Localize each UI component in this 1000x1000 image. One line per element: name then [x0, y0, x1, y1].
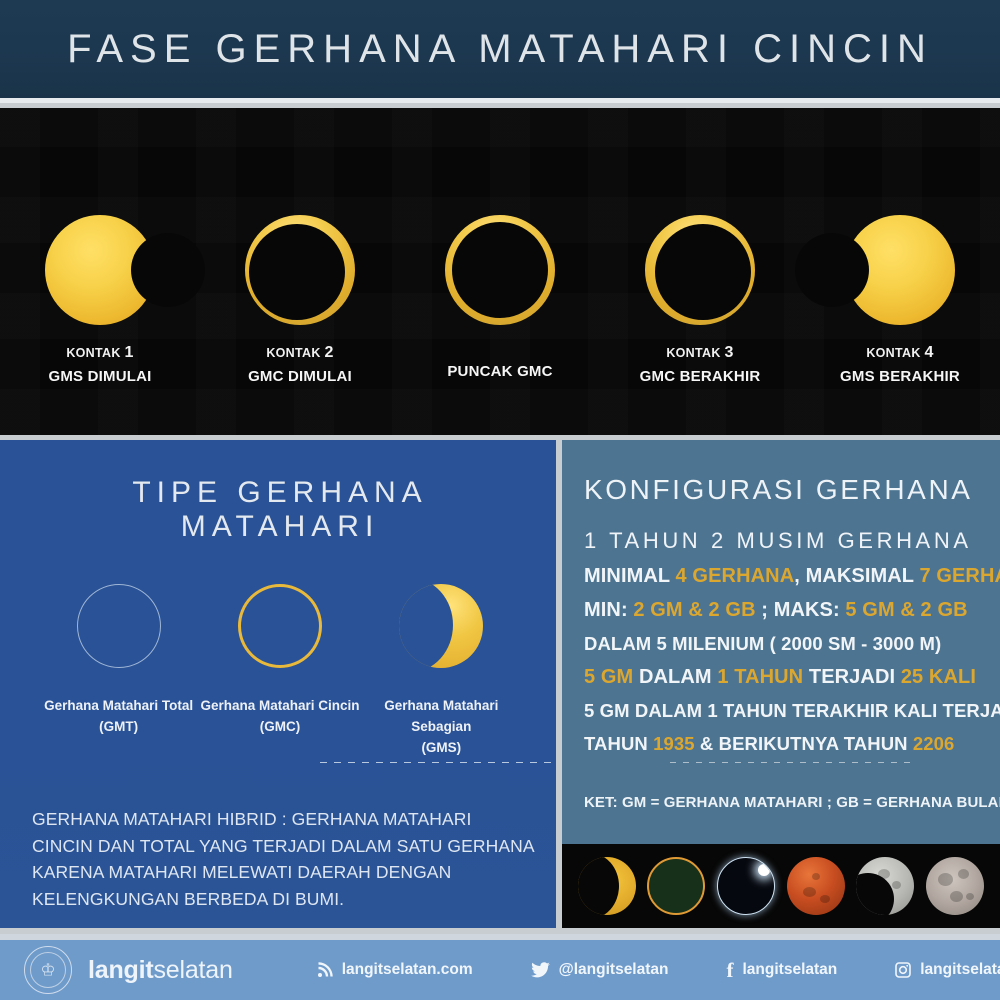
social-label: @langitselatan: [559, 961, 669, 979]
rss-icon: [317, 962, 333, 978]
phase-caption: KONTAK 4 GMS BERAKHIR: [840, 341, 960, 388]
config-line-min-maks: MIN: 2 GM & 2 GB ; MAKS: 5 GM & 2 GB: [584, 599, 980, 622]
phase-contact-number: 2: [324, 344, 333, 361]
highlight-value: 5 GM: [584, 666, 633, 688]
phase-item-2: KONTAK 2 GMC DIMULAI: [200, 108, 400, 435]
config-line-terakhir: 5 GM DALAM 1 TAHUN TERAKHIR KALI TERJADI: [584, 700, 980, 722]
gerhana-matahari-sebagian-photo: [578, 857, 636, 915]
config-line-5gm: 5 GM DALAM 1 TAHUN TERJADI 25 KALI: [584, 666, 980, 689]
right-panel-divider: [670, 762, 910, 763]
sun-bite-left-icon: [845, 215, 955, 325]
phase-contact-label: KONTAK: [266, 346, 320, 360]
highlight-value: 4 GERHANA: [676, 565, 795, 587]
eclipse-types-row: Gerhana Matahari Total (GMT) Gerhana Mat…: [32, 584, 528, 759]
type-name: Gerhana Matahari Sebagian: [361, 696, 522, 738]
phase-contact-number: 1: [124, 344, 133, 361]
text-part: & BERIKUTNYA TAHUN: [695, 733, 913, 754]
langitselatan-seal-icon: ♔: [24, 946, 72, 994]
type-item-gmc: Gerhana Matahari Cincin (GMC): [199, 584, 360, 759]
phase-description: GMS DIMULAI: [48, 366, 151, 388]
highlight-value: 2 GM & 2 GB: [633, 599, 755, 621]
highlight-value: 1 TAHUN: [717, 666, 803, 688]
instagram-icon: [895, 962, 911, 978]
gold-ring-icon: [238, 584, 322, 668]
phase-contact-number: 3: [724, 344, 733, 361]
sun-bite-right-icon: [45, 215, 155, 325]
type-name: Gerhana Matahari Total: [44, 696, 193, 717]
phase-description: GMC DIMULAI: [248, 366, 352, 388]
type-name: Gerhana Matahari Cincin: [200, 696, 359, 717]
brand-light-part: selatan: [153, 956, 232, 984]
brand-name: langitselatan: [88, 956, 233, 985]
highlight-value: 5 GM & 2 GB: [845, 599, 967, 621]
phase-contact-label: KONTAK: [666, 346, 720, 360]
text-part: , MAKSIMAL: [794, 565, 919, 587]
eclipse-phases-section: KONTAK 1 GMS DIMULAI KONTAK 2 GMC DIMULA…: [0, 108, 1000, 435]
phase-caption: KONTAK 2 GMC DIMULAI: [248, 341, 352, 388]
social-label: langitselatan.com: [342, 961, 473, 979]
config-line-tahun: TAHUN 1935 & BERIKUTNYA TAHUN 2206: [584, 733, 980, 755]
social-link-twitter[interactable]: @langitselatan: [531, 961, 669, 979]
text-part: ; MAKS:: [756, 599, 846, 621]
highlight-value: 1935: [653, 733, 695, 754]
eclipse-photo-strip: [562, 844, 1000, 928]
phase-contact-number: 4: [924, 344, 933, 361]
config-line-minimal: MINIMAL 4 GERHANA, MAKSIMAL 7 GERHANA: [584, 565, 980, 588]
text-part: MINIMAL: [584, 565, 676, 587]
brand-bold-part: langit: [88, 956, 153, 984]
social-label: langitselatan: [743, 961, 838, 979]
gerhana-matahari-total-photo: [717, 857, 775, 915]
phase-description: GMC BERAKHIR: [640, 366, 761, 388]
phase-description: GMS BERAKHIR: [840, 366, 960, 388]
type-abbr: (GMC): [200, 717, 359, 738]
ring-thin-icon: [445, 215, 555, 325]
type-abbr: (GMT): [44, 717, 193, 738]
config-headline: 1 TAHUN 2 MUSIM GERHANA: [584, 528, 980, 554]
config-line-milenium: DALAM 5 MILENIUM ( 2000 SM - 3000 M): [584, 633, 980, 655]
facebook-icon: f: [727, 960, 734, 981]
highlight-value: 25 KALI: [901, 666, 976, 688]
ring-offset-right-icon: [245, 215, 355, 325]
text-part: DALAM: [633, 666, 717, 688]
phase-contact-label: KONTAK: [66, 346, 120, 360]
phase-description: PUNCAK GMC: [447, 361, 552, 383]
panels-row: TIPE GERHANA MATAHARI Gerhana Matahari T…: [0, 440, 1000, 928]
phase-caption: KONTAK 1 GMS DIMULAI: [48, 341, 151, 388]
legend-note: KET: GM = GERHANA MATAHARI ; GB = GERHAN…: [584, 794, 1000, 811]
phase-item-3: PUNCAK GMC: [400, 108, 600, 435]
type-item-gmt: Gerhana Matahari Total (GMT): [38, 584, 199, 759]
hybrid-eclipse-note: GERHANA MATAHARI HIBRID : GERHANA MATAHA…: [32, 806, 534, 912]
type-item-gms: Gerhana Matahari Sebagian (GMS): [361, 584, 522, 759]
page-title: FASE GERHANA MATAHARI CINCIN: [67, 27, 933, 72]
highlight-value: 7 GERHANA: [919, 565, 1000, 587]
poster-footer: ♔ langitselatan langitselatan.com: [0, 934, 1000, 1000]
infographic-poster: FASE GERHANA MATAHARI CINCIN KONTAK 1 GM…: [0, 0, 1000, 1000]
bulan-purnama-photo: [926, 857, 984, 915]
right-panel-title: KONFIGURASI GERHANA: [584, 474, 980, 506]
phase-caption: PUNCAK GMC: [447, 341, 552, 383]
ring-offset-left-icon: [645, 215, 755, 325]
text-part: MIN:: [584, 599, 633, 621]
tipe-gerhana-panel: TIPE GERHANA MATAHARI Gerhana Matahari T…: [0, 440, 556, 928]
social-link-website[interactable]: langitselatan.com: [317, 961, 473, 979]
phase-caption: KONTAK 3 GMC BERAKHIR: [640, 341, 761, 388]
left-panel-divider: [320, 762, 556, 763]
phase-contact-label: KONTAK: [866, 346, 920, 360]
highlight-value: 2206: [913, 733, 955, 754]
gerhana-bulan-total-photo: [787, 857, 845, 915]
gold-crescent-icon: [399, 584, 483, 668]
phase-item-1: KONTAK 1 GMS DIMULAI: [0, 108, 200, 435]
text-part: TERJADI: [803, 666, 901, 688]
phase-item-4: KONTAK 3 GMC BERAKHIR: [600, 108, 800, 435]
brand-block[interactable]: ♔ langitselatan: [24, 946, 233, 994]
outline-circle-icon: [77, 584, 161, 668]
left-panel-title: TIPE GERHANA MATAHARI: [32, 476, 528, 544]
type-abbr: (GMS): [361, 738, 522, 759]
gerhana-bulan-sebagian-photo: [856, 857, 914, 915]
konfigurasi-gerhana-panel: KONFIGURASI GERHANA 1 TAHUN 2 MUSIM GERH…: [562, 440, 1000, 928]
phase-item-5: KONTAK 4 GMS BERAKHIR: [800, 108, 1000, 435]
gerhana-matahari-cincin-photo: [647, 857, 705, 915]
social-label: langitselatanmedia: [920, 961, 1000, 979]
text-part: TAHUN: [584, 733, 653, 754]
social-links: langitselatan.com @langitselatan f langi…: [317, 960, 1000, 981]
poster-header: FASE GERHANA MATAHARI CINCIN: [0, 0, 1000, 103]
twitter-icon: [531, 962, 550, 978]
social-link-facebook[interactable]: f langitselatan: [727, 960, 838, 981]
social-link-instagram[interactable]: langitselatanmedia: [895, 961, 1000, 979]
